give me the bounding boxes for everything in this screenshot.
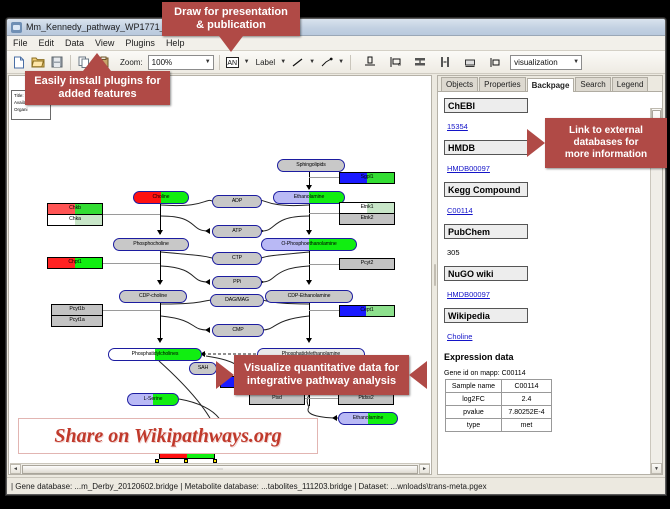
- node-choline[interactable]: Choline: [133, 191, 189, 204]
- node-sphingolipids[interactable]: Sphingolipids: [277, 159, 345, 172]
- node-ethanolamine-bottom[interactable]: Ethanolamine: [338, 412, 398, 425]
- zoom-label: Zoom:: [120, 58, 143, 67]
- arrow-phosphocholine-cdpcholine: [157, 280, 163, 285]
- node-o-phosphoethanolamine[interactable]: O-Phosphoethanolamine: [261, 238, 357, 251]
- callout-link-line3: more information: [565, 149, 647, 161]
- node-etnk2[interactable]: Etnk2: [339, 213, 395, 225]
- chevron-down-icon-2: ▼: [570, 59, 579, 65]
- node-label: Sgpl1: [361, 175, 374, 180]
- row-value: met: [502, 419, 552, 432]
- connector-chpt1: [103, 263, 160, 264]
- expression-data-title: Expression data: [444, 352, 648, 362]
- callout-link-arrow: [527, 129, 545, 157]
- table-row: pvalue 7.80252E-4: [446, 406, 552, 419]
- callout-plugins-arrow: [83, 53, 111, 71]
- node-label: Etnk1: [361, 205, 374, 210]
- side-tabstrip: Objects Properties Backpage Search Legen…: [438, 76, 662, 92]
- connector-cept1: [309, 310, 339, 311]
- node-label: CDP-Ethanolamine: [288, 294, 331, 299]
- row-value: C00114: [502, 380, 552, 393]
- section-header-kegg: Kegg Compound: [444, 182, 528, 197]
- link-kegg[interactable]: C00114: [447, 206, 473, 215]
- align-top-icon[interactable]: [362, 54, 378, 70]
- menu-plugins[interactable]: Plugins: [124, 38, 156, 48]
- node-sgpl1[interactable]: Sgpl1: [339, 172, 395, 184]
- edge-cdpetn-pe: [309, 303, 310, 341]
- node-cept1[interactable]: Cept1: [339, 305, 395, 317]
- node-label: SAH: [198, 366, 208, 371]
- callout-visualize-line2: integrative pathway analysis: [244, 375, 399, 388]
- interaction-tool-icon[interactable]: [319, 54, 335, 70]
- node-label: O-Phosphoethanolamine: [281, 242, 336, 247]
- order-front-icon[interactable]: [487, 54, 503, 70]
- node-phosphocholine[interactable]: Phosphocholine: [113, 238, 189, 251]
- node-label: Sphingolipids: [296, 163, 326, 168]
- node-l-serine-left[interactable]: L-Serine: [127, 393, 179, 406]
- canvas-horizontal-scrollbar[interactable]: ◄ ⋯ ►: [10, 463, 430, 474]
- node-label: Ethanolamine: [353, 416, 384, 421]
- node-chpt1[interactable]: Chpt1: [47, 257, 103, 269]
- canvas-scroll-thumb[interactable]: ⋯: [22, 465, 418, 474]
- pathway-canvas[interactable]: Title: Availab Organi: [8, 75, 432, 475]
- scroll-right-icon[interactable]: ►: [419, 464, 430, 474]
- connector-etnk: [309, 213, 339, 214]
- menu-edit[interactable]: Edit: [38, 38, 56, 48]
- callout-visualize-arrow-right: [409, 361, 427, 389]
- datanode-icon[interactable]: AN: [225, 54, 241, 70]
- visualization-combo[interactable]: visualization ▼: [510, 55, 582, 70]
- connector-pcyt2: [309, 264, 339, 265]
- arrow-choline-phosphocholine: [157, 230, 163, 235]
- callout-link: Link to external databases for more info…: [545, 118, 667, 168]
- section-header-chebi: ChEBI: [444, 98, 528, 113]
- callout-plugins-line1: Easily install plugins for: [34, 75, 161, 88]
- node-ethanolamine[interactable]: Ethanolamine: [273, 191, 345, 204]
- stack-vertical-icon[interactable]: [412, 54, 428, 70]
- new-file-icon[interactable]: [11, 54, 27, 70]
- arrow-ethanolamine-ope: [306, 230, 312, 235]
- toolbar-separator-2: [219, 55, 220, 70]
- node-adp[interactable]: ADP: [212, 195, 262, 208]
- node-label: Chka: [69, 217, 81, 222]
- datanode-dropdown-icon[interactable]: ▼: [244, 59, 250, 65]
- edge-ope-cdpetn: [309, 251, 310, 283]
- visualization-value: visualization: [514, 58, 558, 67]
- share-banner: Share on Wikipathways.org: [18, 418, 318, 454]
- arrow-to-ethanolamine-bottom: [332, 415, 337, 421]
- label-dropdown-icon[interactable]: ▼: [280, 59, 286, 65]
- arrow-sphingolipid-ethanolamine: [306, 185, 312, 190]
- row-key: Sample name: [446, 380, 502, 393]
- connector-chk: [103, 214, 160, 215]
- node-label: CTP: [232, 256, 242, 261]
- node-label: Ethanolamine: [294, 195, 325, 200]
- callout-link-line2: databases for: [565, 137, 647, 149]
- link-nugo[interactable]: HMDB00097: [447, 290, 490, 299]
- toolbar-separator-1: [70, 55, 71, 70]
- node-label: PPi: [233, 280, 241, 285]
- node-phosphatidylcholines[interactable]: Phosphatidylcholines: [108, 348, 202, 361]
- line-dropdown-icon[interactable]: ▼: [309, 59, 315, 65]
- callout-visualize-arrow-left: [216, 361, 234, 389]
- table-row: log2FC 2.4: [446, 393, 552, 406]
- table-row: Sample name C00114: [446, 380, 552, 393]
- callout-draw-line2: & publication: [174, 19, 288, 32]
- menu-data[interactable]: Data: [64, 38, 85, 48]
- node-label: L-Serine: [144, 397, 163, 402]
- node-atp[interactable]: ATP: [212, 225, 262, 238]
- title-bar: Mm_Kennedy_pathway_WP1771_45176.gpml: [7, 19, 665, 36]
- node-label: CMP: [232, 328, 243, 333]
- node-label: DAG/MAG: [225, 298, 249, 303]
- callout-plugins-line2: added features: [34, 88, 161, 101]
- row-key: type: [446, 419, 502, 432]
- tab-search[interactable]: Search: [575, 77, 610, 91]
- scroll-down-icon[interactable]: ▼: [651, 463, 662, 474]
- section-header-pubchem: PubChem: [444, 224, 528, 239]
- node-chka[interactable]: Chka: [47, 214, 103, 226]
- node-label: Etnk2: [361, 216, 374, 221]
- svg-text:o: o: [398, 62, 401, 68]
- node-ctp[interactable]: CTP: [212, 252, 262, 265]
- callout-visualize-line1: Visualize quantitative data for: [244, 362, 399, 375]
- node-label: CDP-choline: [139, 294, 167, 299]
- share-banner-text: Share on Wikipathways.org: [54, 425, 281, 448]
- status-text: | Gene database: ...m_Derby_20120602.bri…: [11, 482, 487, 491]
- callout-visualize: Visualize quantitative data for integrat…: [234, 355, 409, 395]
- node-dag-mag[interactable]: DAG/MAG: [210, 294, 264, 307]
- arrow-cdpcholine-pc: [157, 338, 163, 343]
- node-sah[interactable]: SAH: [189, 362, 217, 375]
- node-cdp-ethanolamine[interactable]: CDP-Ethanolamine: [265, 290, 353, 303]
- menu-view[interactable]: View: [94, 38, 115, 48]
- arrow-ppi: [205, 279, 210, 285]
- node-pcyt1a[interactable]: Pcyt1a: [51, 315, 103, 327]
- gene-id-line: Gene id on mapp: C00114: [444, 370, 648, 377]
- node-label: Ptdss2: [358, 396, 373, 401]
- node-cmp[interactable]: CMP: [212, 324, 264, 337]
- node-label: Pcyt1b: [69, 307, 84, 312]
- callout-draw-arrow: [219, 36, 243, 52]
- connector-sgpl1: [309, 177, 339, 178]
- section-header-nugo: NuGO wiki: [444, 266, 528, 281]
- node-label: Phosphocholine: [133, 242, 169, 247]
- row-value: 7.80252E-4: [502, 406, 552, 419]
- app-icon: [11, 22, 22, 33]
- row-key: log2FC: [446, 393, 502, 406]
- label-tool-label[interactable]: Label: [256, 58, 276, 67]
- callout-plugins: Easily install plugins for added feature…: [25, 71, 170, 105]
- link-hmdb[interactable]: HMDB00097: [447, 164, 490, 173]
- align-left-icon[interactable]: o: [387, 54, 403, 70]
- menu-bar: File Edit Data View Plugins Help: [7, 36, 665, 51]
- tab-backpage[interactable]: Backpage: [527, 78, 575, 92]
- tab-legend[interactable]: Legend: [612, 77, 649, 91]
- section-header-wikipedia: Wikipedia: [444, 308, 528, 323]
- callout-link-line1: Link to external: [565, 125, 647, 137]
- interaction-dropdown-icon[interactable]: ▼: [338, 59, 344, 65]
- node-label: Chkb: [69, 206, 81, 211]
- node-label: Pcyt2: [361, 261, 373, 266]
- callout-draw: Draw for presentation & publication: [162, 2, 300, 36]
- section-header-hmdb: HMDB: [444, 140, 528, 155]
- zoom-value: 100%: [152, 58, 172, 67]
- link-chebi[interactable]: 15354: [447, 122, 468, 131]
- arrow-cmp: [205, 327, 210, 333]
- node-label: ATP: [232, 229, 241, 234]
- connector-pcyt1: [103, 310, 160, 311]
- arrow-atp: [205, 228, 210, 234]
- distribute-horizontal-icon[interactable]: [437, 54, 453, 70]
- node-label: Choline: [153, 195, 170, 200]
- node-ppi[interactable]: PPi: [212, 276, 262, 289]
- arrow-cdpetn-pe: [306, 338, 312, 343]
- zoom-combo[interactable]: 100% ▼: [148, 55, 214, 70]
- callout-draw-line1: Draw for presentation: [174, 6, 288, 19]
- menu-file[interactable]: File: [12, 38, 29, 48]
- svg-text:AN: AN: [228, 60, 238, 67]
- tab-objects[interactable]: Objects: [441, 77, 478, 91]
- pathway-diagram: Sphingolipids Choline Ethanolamine ADP A…: [9, 76, 431, 474]
- table-row: type met: [446, 419, 552, 432]
- node-label: Chpt1: [68, 260, 81, 265]
- arrow-ope-cdpetn: [306, 280, 312, 285]
- save-file-icon[interactable]: [49, 54, 65, 70]
- node-cdp-choline[interactable]: CDP-choline: [119, 290, 187, 303]
- node-label: Pcyt1a: [69, 318, 84, 323]
- row-key: pvalue: [446, 406, 502, 419]
- status-bar: | Gene database: ...m_Derby_20120602.bri…: [7, 477, 665, 494]
- scroll-left-icon[interactable]: ◄: [10, 464, 21, 474]
- node-label: ADP: [232, 199, 242, 204]
- menu-help[interactable]: Help: [165, 38, 186, 48]
- value-pubchem: 305: [447, 248, 460, 257]
- open-file-icon[interactable]: [30, 54, 46, 70]
- toolbar-separator-3: [350, 55, 351, 70]
- node-label: Pisd: [272, 396, 282, 401]
- edge-phosphocholine-cdpcholine: [160, 251, 161, 283]
- line-tool-icon[interactable]: [290, 54, 306, 70]
- row-value: 2.4: [502, 393, 552, 406]
- node-label: Phosphatidylcholines: [132, 352, 179, 357]
- edge-cdpcholine-pc: [160, 303, 161, 341]
- expression-table: Sample name C00114 log2FC 2.4 pvalue 7.8…: [445, 379, 552, 432]
- tab-properties[interactable]: Properties: [479, 77, 525, 91]
- group-icon[interactable]: [462, 54, 478, 70]
- node-label: Cept1: [360, 308, 373, 313]
- chevron-down-icon: ▼: [202, 59, 211, 65]
- connector-ptdss2: [305, 398, 338, 399]
- node-pcyt2[interactable]: Pcyt2: [339, 258, 395, 270]
- link-wikipedia[interactable]: Choline: [447, 332, 472, 341]
